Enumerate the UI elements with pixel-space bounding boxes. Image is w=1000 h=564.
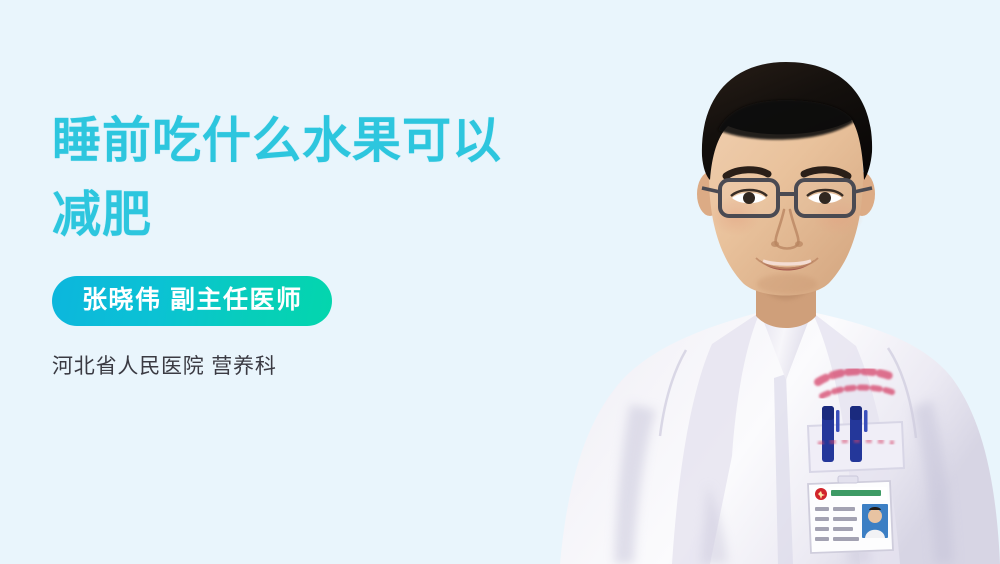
party-emblem-icon <box>815 488 827 500</box>
pen <box>822 406 840 462</box>
doctor-name-title-badge: 张晓伟 副主任医师 <box>52 276 332 326</box>
neck <box>756 258 816 328</box>
page-title: 睡前吃什么水果可以 减肥 <box>52 104 612 252</box>
hospital-department-label: 河北省人民医院 营养科 <box>52 352 612 382</box>
pen <box>850 406 868 462</box>
eyeglasses <box>702 180 872 216</box>
doctor-portrait-photo <box>560 44 1000 564</box>
text-block: 睡前吃什么水果可以 减肥 张晓伟 副主任医师 河北省人民医院 营养科 <box>52 104 612 382</box>
white-lab-coat <box>560 312 1000 564</box>
coat-embroidery <box>818 371 892 396</box>
doctor-face <box>697 62 875 296</box>
thumbnail-card: 睡前吃什么水果可以 减肥 张晓伟 副主任医师 河北省人民医院 营养科 <box>0 0 1000 564</box>
id-badge <box>808 476 893 553</box>
chest-pocket-pens <box>808 406 904 472</box>
